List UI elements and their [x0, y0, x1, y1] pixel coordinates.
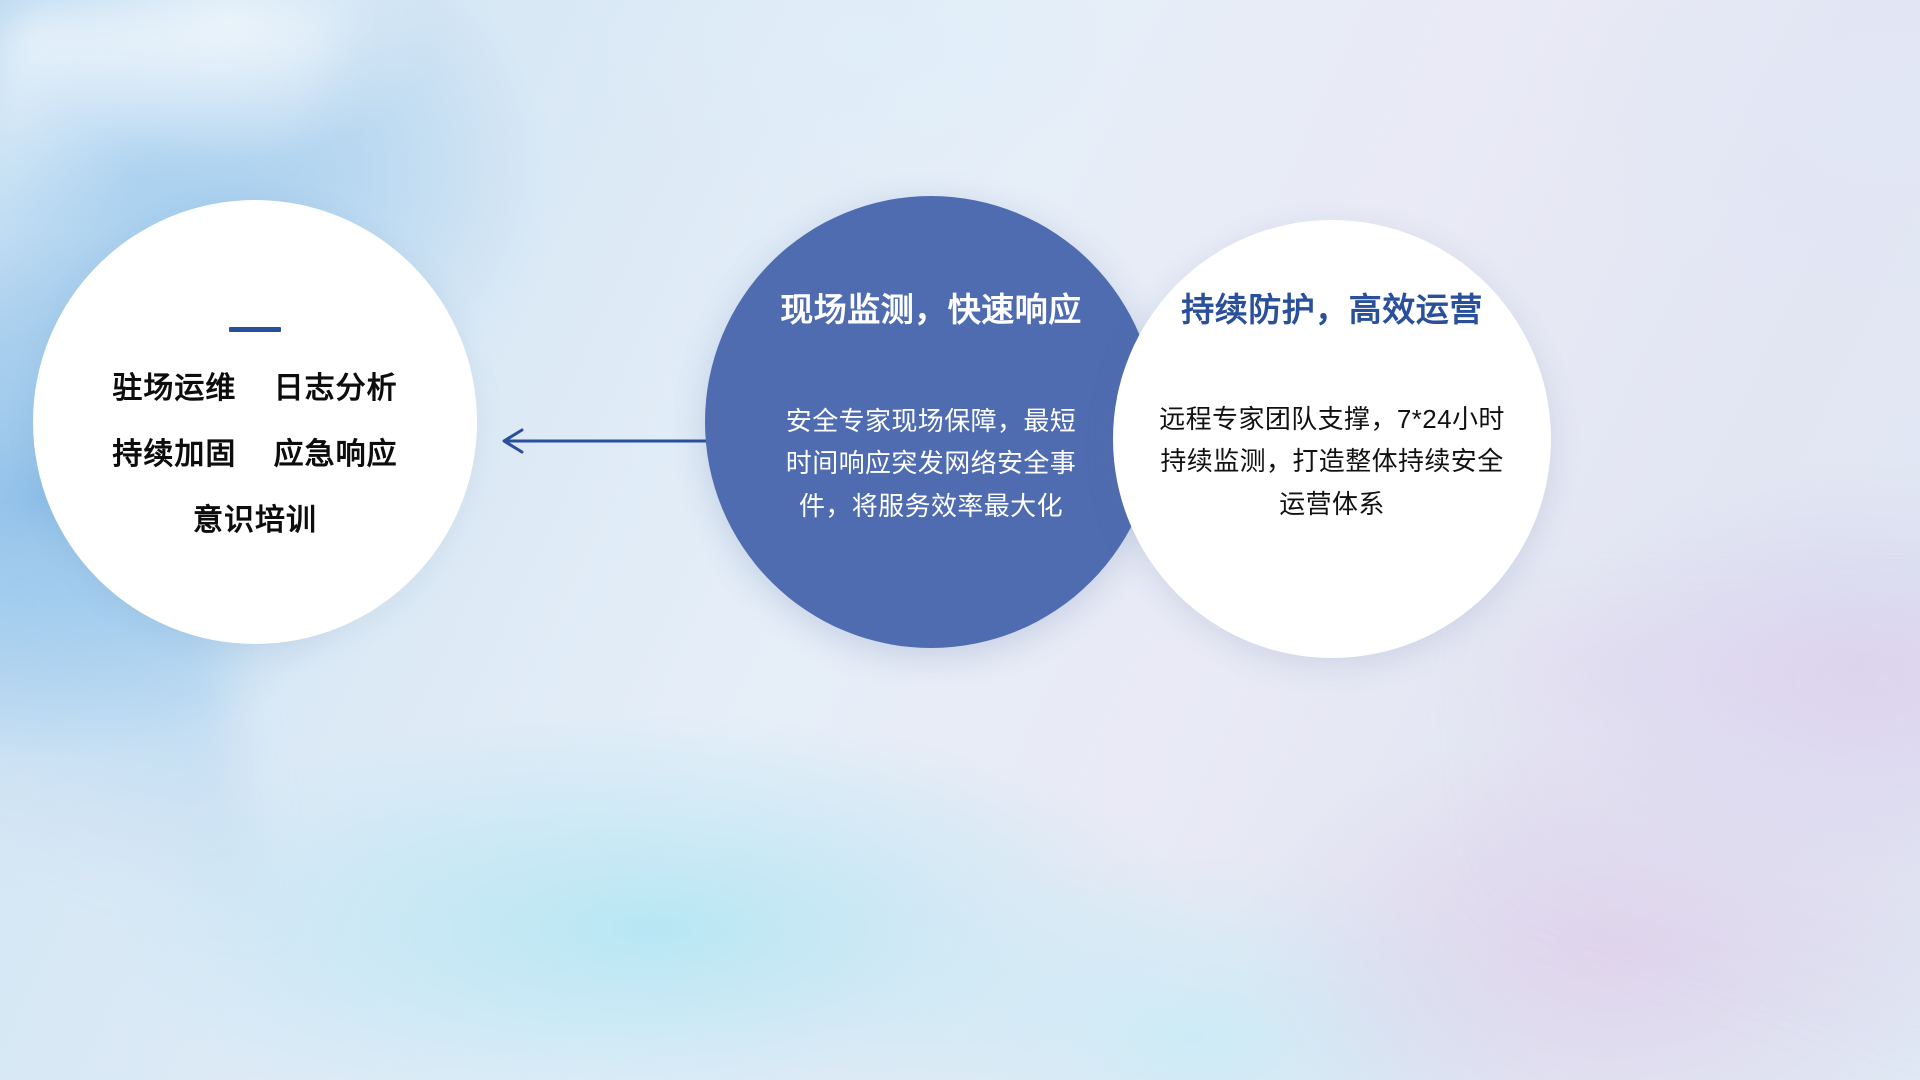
middle-circle-body: 安全专家现场保障，最短时间响应突发网络安全事件，将服务效率最大化 — [781, 400, 1081, 526]
left-circle-line-3: 意识培训 — [193, 506, 317, 536]
left-circle-line-1: 驻场运维 日志分析 — [112, 374, 397, 404]
middle-circle-content: 现场监测，快速响应 安全专家现场保障，最短时间响应突发网络安全事件，将服务效率最… — [705, 196, 1157, 648]
middle-circle-title: 现场监测，快速响应 — [780, 292, 1082, 328]
right-circle-content: 持续防护，高效运营 远程专家团队支撑，7*24小时持续监测，打造整体持续安全运营… — [1113, 220, 1551, 658]
capability-circle-left[interactable]: 驻场运维 日志分析 持续加固 应急响应 意识培训 — [33, 200, 477, 644]
capability-circle-middle[interactable]: 现场监测，快速响应 安全专家现场保障，最短时间响应突发网络安全事件，将服务效率最… — [705, 196, 1157, 648]
accent-rule — [229, 327, 281, 332]
left-circle-line-2: 持续加固 应急响应 — [112, 440, 397, 470]
right-circle-title: 持续防护，高效运营 — [1181, 292, 1483, 328]
capability-circle-right[interactable]: 持续防护，高效运营 远程专家团队支撑，7*24小时持续监测，打造整体持续安全运营… — [1113, 220, 1551, 658]
right-circle-body: 远程专家团队支撑，7*24小时持续监测，打造整体持续安全运营体系 — [1157, 398, 1507, 524]
background-streak-bottom-right — [1500, 620, 1920, 1080]
left-circle-content: 驻场运维 日志分析 持续加固 应急响应 意识培训 — [33, 200, 477, 644]
